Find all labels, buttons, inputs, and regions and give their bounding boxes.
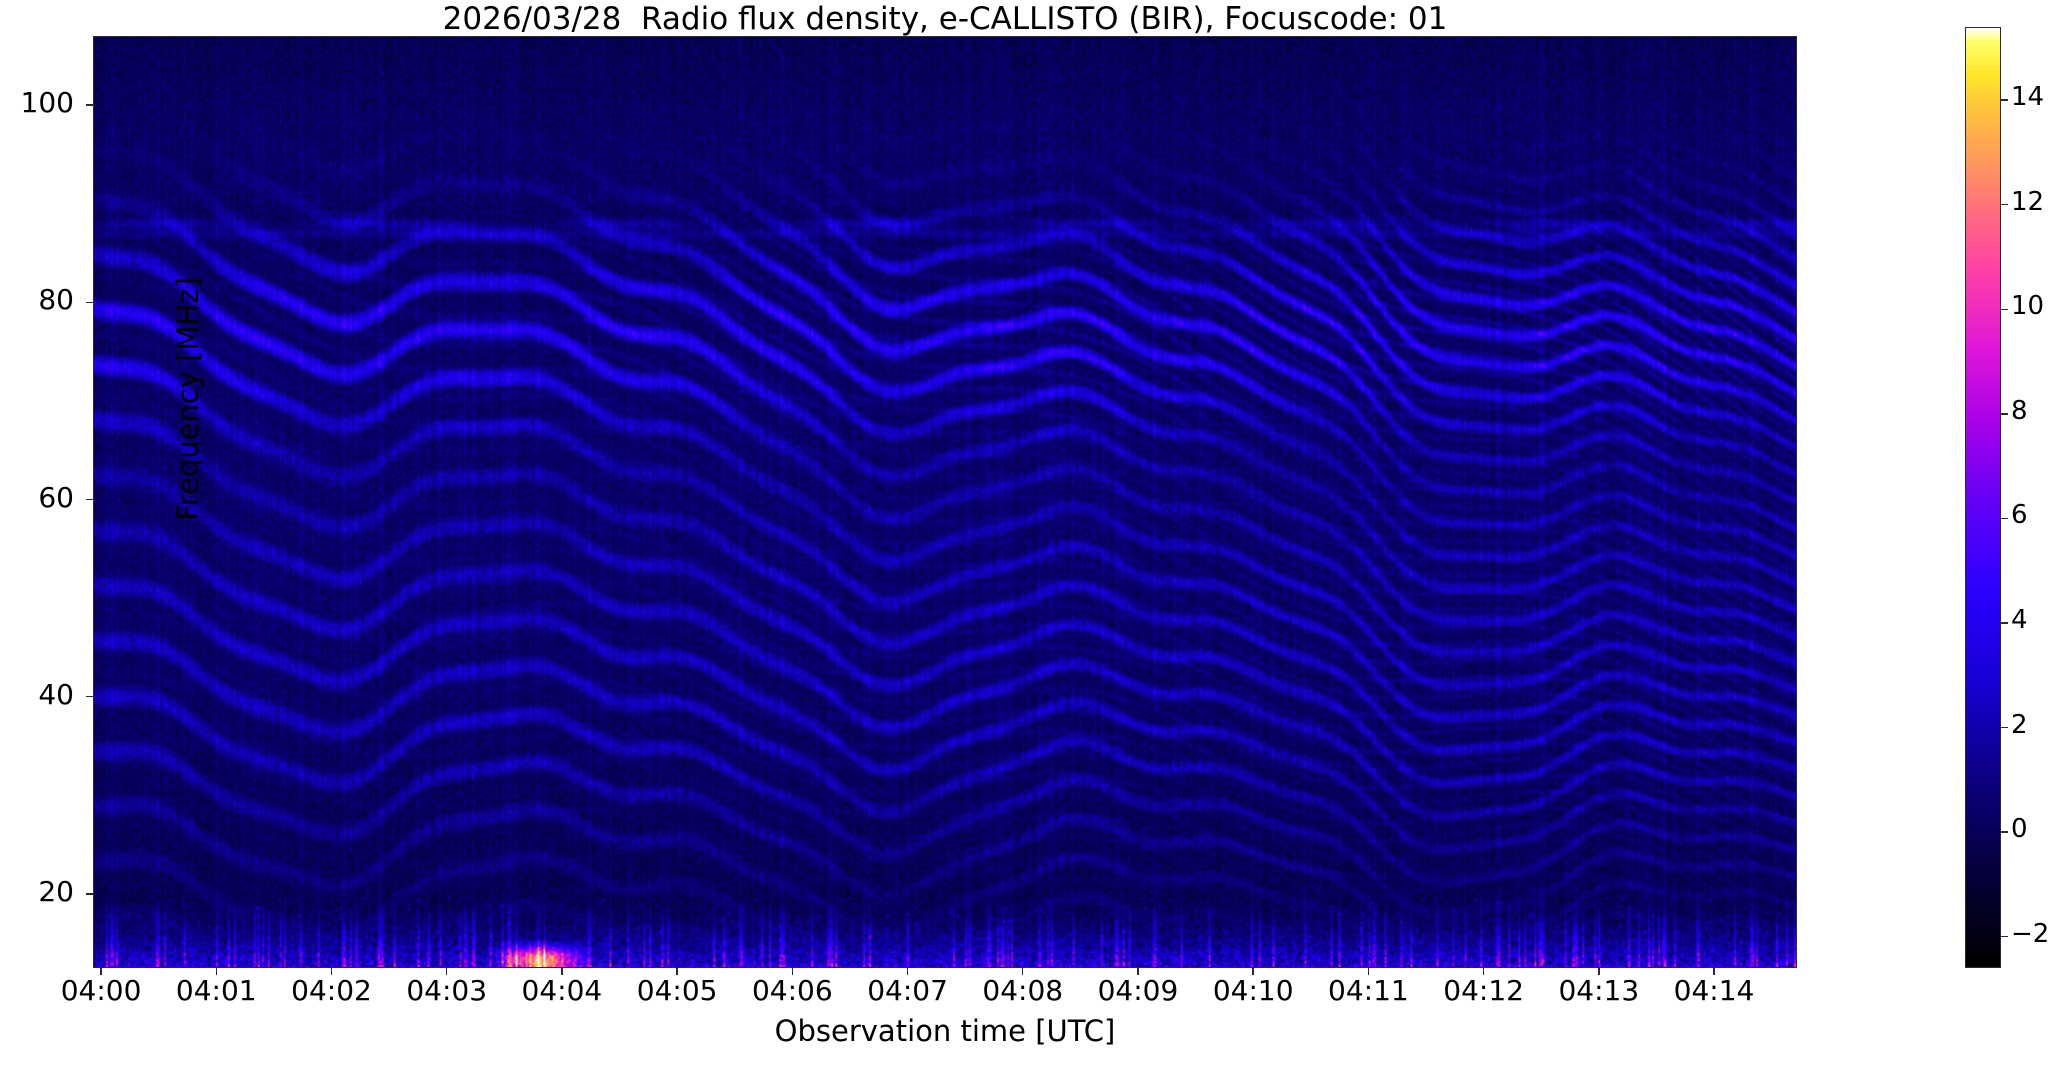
colorbar-tick-label: 10 — [2011, 291, 2044, 321]
colorbar-tick-mark — [2001, 622, 2008, 623]
colorbar-tick-mark — [2001, 413, 2008, 414]
colorbar-tick-mark — [2001, 831, 2008, 832]
colorbar-tick-label: −2 — [2011, 919, 2049, 949]
spectrogram-figure: 2026/03/28 Radio flux density, e-CALLIST… — [0, 0, 2066, 1067]
colorbar — [1965, 27, 2001, 968]
x-axis-label: Observation time [UTC] — [93, 1014, 1797, 1048]
colorbar-tick-label: 8 — [2011, 396, 2028, 426]
colorbar-tick-label: 6 — [2011, 500, 2028, 530]
colorbar-tick-label: 12 — [2011, 187, 2044, 217]
y-tick-label: 20 — [0, 875, 74, 908]
spectrogram-image — [94, 37, 1796, 967]
y-tick-label: 60 — [0, 481, 74, 514]
x-tick-label: 04:14 — [1644, 974, 1784, 1007]
colorbar-tick-mark — [2001, 309, 2008, 310]
colorbar-tick-label: 14 — [2011, 82, 2044, 112]
y-tick-mark — [86, 302, 93, 303]
y-axis-label: Frequency [MHz] — [171, 189, 205, 609]
page-title: 2026/03/28 Radio flux density, e-CALLIST… — [93, 2, 1797, 36]
colorbar-tick-mark — [2001, 99, 2008, 100]
spectrogram-canvas-wrapper — [94, 37, 1796, 967]
y-tick-label: 100 — [0, 86, 74, 119]
y-tick-mark — [86, 893, 93, 894]
colorbar-tick-mark — [2001, 518, 2008, 519]
spectrogram-plot-area — [93, 36, 1797, 968]
y-tick-label: 80 — [0, 283, 74, 316]
colorbar-tick-label: 0 — [2011, 814, 2028, 844]
colorbar-tick-label: 4 — [2011, 605, 2028, 635]
colorbar-gradient — [1966, 28, 2000, 967]
y-tick-mark — [86, 499, 93, 500]
y-tick-mark — [86, 696, 93, 697]
colorbar-tick-mark — [2001, 727, 2008, 728]
y-tick-mark — [86, 104, 93, 105]
colorbar-tick-mark — [2001, 936, 2008, 937]
colorbar-tick-label: 2 — [2011, 710, 2028, 740]
y-tick-label: 40 — [0, 678, 74, 711]
colorbar-tick-mark — [2001, 204, 2008, 205]
